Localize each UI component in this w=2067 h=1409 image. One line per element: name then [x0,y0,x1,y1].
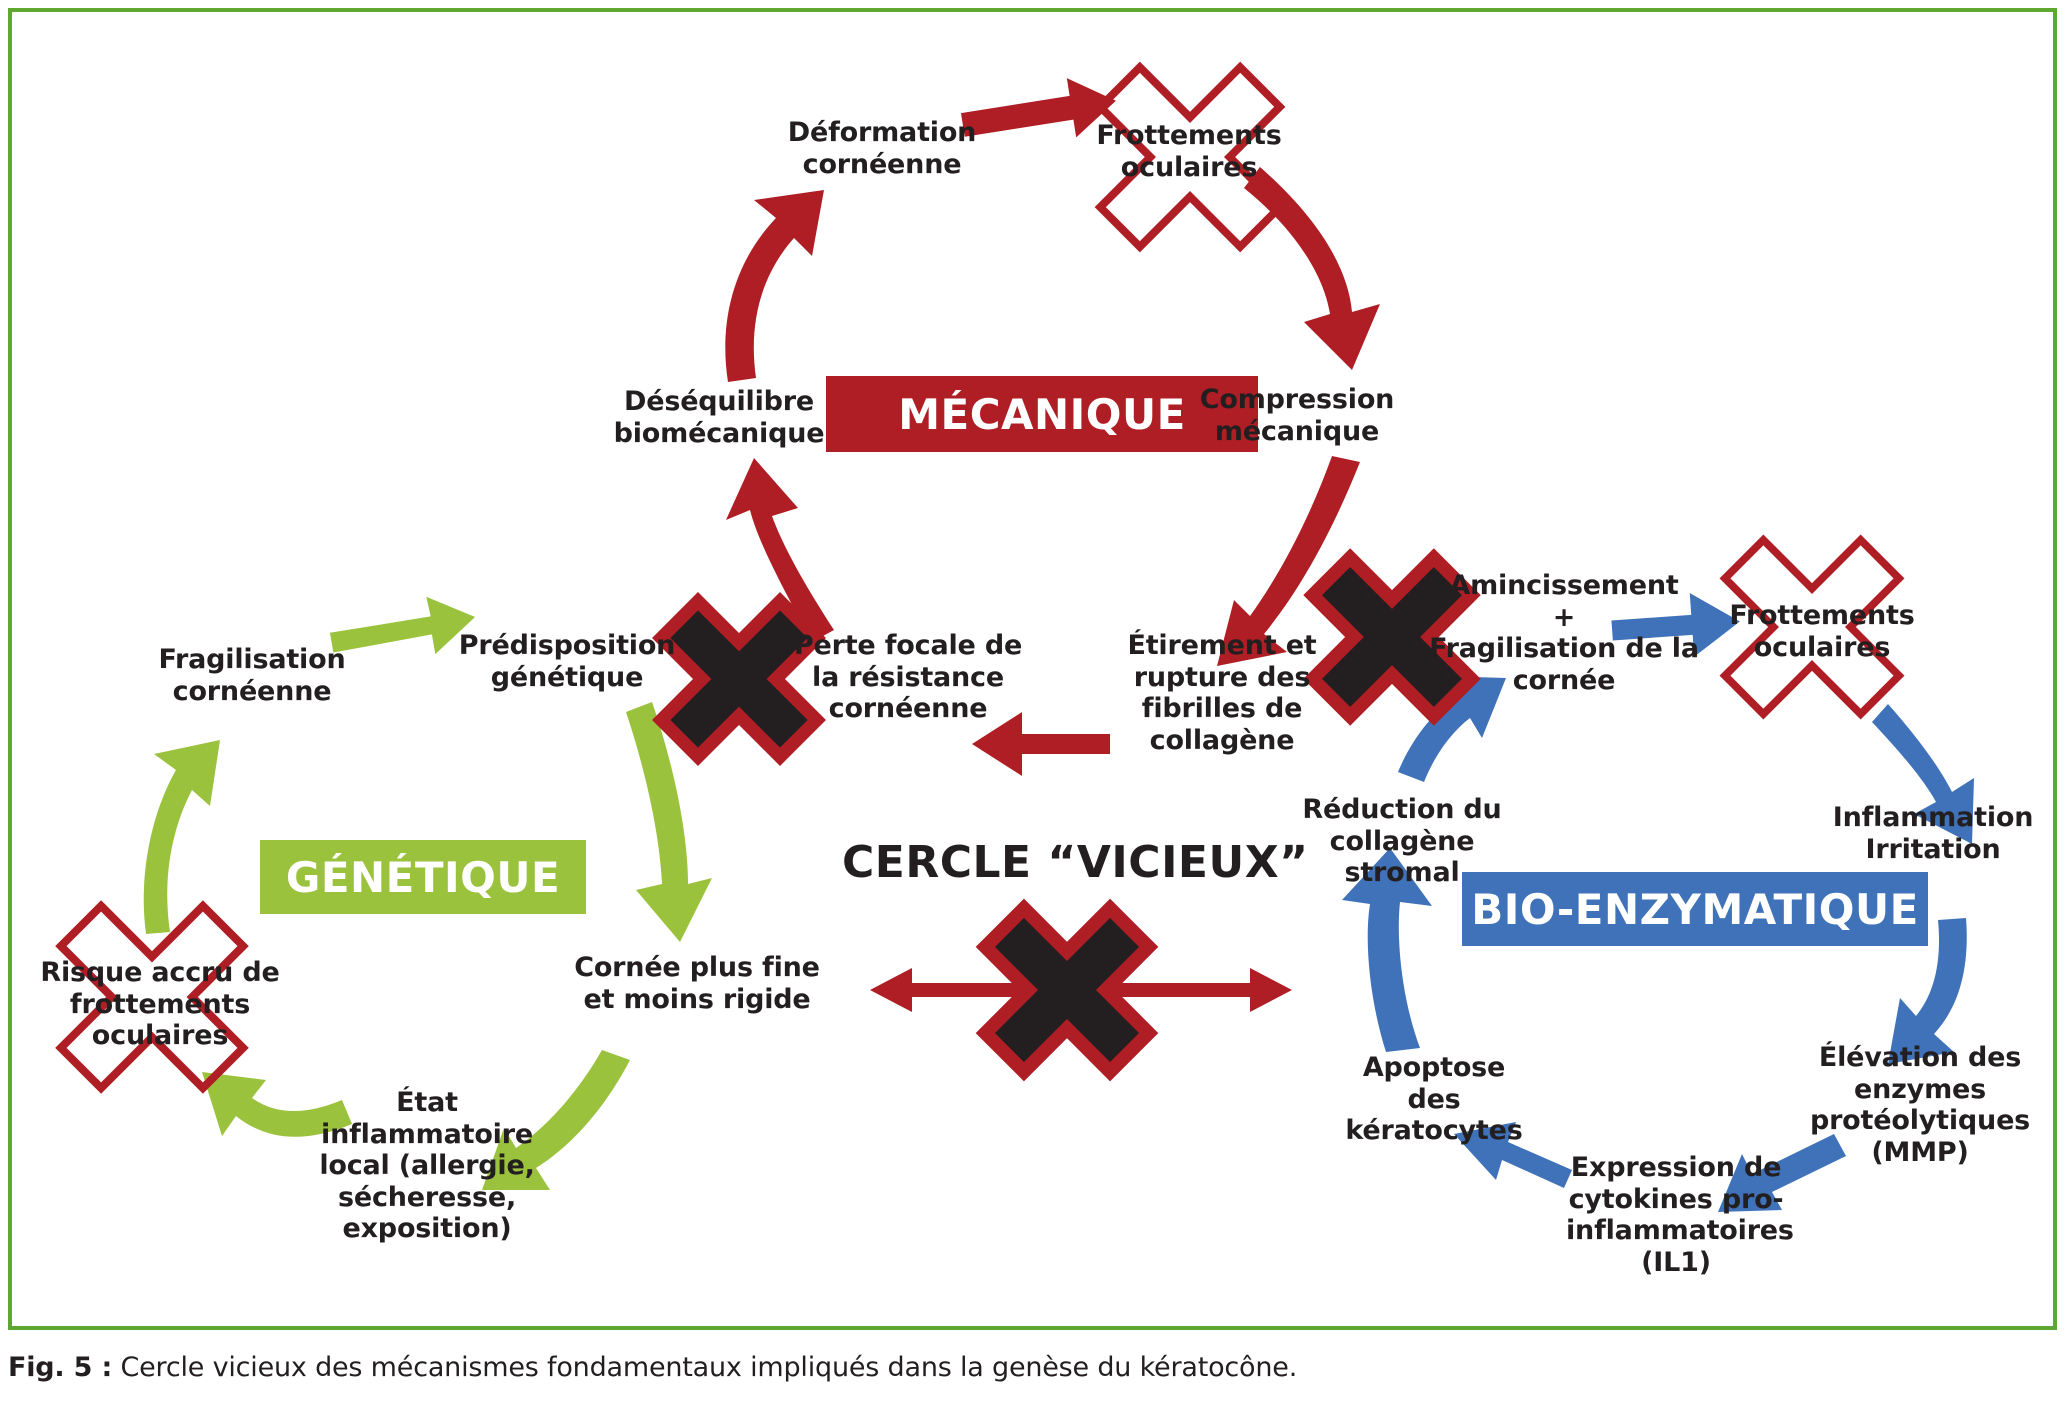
banner-bioenzymatique: BIO-ENZYMATIQUE [1462,872,1928,946]
node-inflammation-irritation: Inflammation Irritation [1820,802,2046,865]
node-compression-mecanique: Compression mécanique [1172,384,1422,447]
node-apoptose-keratocytes: Apoptose des kératocytes [1344,1052,1524,1147]
banner-genetique-label: GÉNÉTIQUE [286,853,560,902]
node-etirement-rupture: Étirement et rupture des fibrilles de co… [1102,630,1342,756]
node-risque-accru: Risque accru de frottements oculaires [20,957,300,1052]
diagram-canvas: MÉCANIQUE GÉNÉTIQUE BIO-ENZYMATIQUE CERC… [12,12,2061,1334]
node-predisposition-genetique: Prédisposition génétique [452,630,682,693]
banner-genetique: GÉNÉTIQUE [260,840,586,914]
figure-caption-text: Cercle vicieux des mécanismes fondamenta… [112,1352,1297,1383]
node-expression-cytokines: Expression de cytokines pro- inflammatoi… [1566,1152,1786,1278]
node-reduction-collagene: Réduction du collagène stromal [1292,794,1512,889]
double-headed-arrow-center [870,968,1292,1012]
node-perte-focale: Perte focale de la résistance cornéenne [782,630,1034,725]
node-frottements-oculaires-bio: Frottements oculaires [1712,600,1932,663]
node-frottements-oculaires-top: Frottements oculaires [1084,120,1294,183]
banner-bioenzymatique-label: BIO-ENZYMATIQUE [1471,885,1919,934]
node-desequilibre-biomecanique: Déséquilibre biomécanique [600,386,838,449]
arrow-risque-to-fragilisation [144,740,220,934]
figure-frame: MÉCANIQUE GÉNÉTIQUE BIO-ENZYMATIQUE CERC… [8,8,2057,1330]
node-etat-inflammatoire: État inflammatoire local (allergie, séch… [312,1087,542,1245]
banner-mecanique-label: MÉCANIQUE [898,390,1186,439]
node-cornee-plus-fine: Cornée plus fine et moins rigide [572,952,822,1015]
arrow-frottements-to-compression [1244,167,1380,370]
center-title: CERCLE “VICIEUX” [842,837,1272,888]
node-amincissement-fragilisation: Amincissement + Fragilisation de la corn… [1424,570,1704,696]
arrow-perte-to-desequilibre [726,458,834,642]
node-elevation-enzymes: Élévation des enzymes protéolytiques (MM… [1800,1042,2040,1168]
cross-solid-center [942,865,1191,1114]
node-deformation-corneenne: Déformation cornéenne [752,117,1012,180]
arrow-desequilibre-to-deformation [725,190,824,382]
figure-caption: Fig. 5 : Cercle vicieux des mécanismes f… [8,1352,2058,1383]
arrow-predisposition-to-cornee [626,702,712,942]
node-fragilisation-corneenne: Fragilisation cornéenne [142,644,362,707]
figure-caption-label: Fig. 5 : [8,1352,112,1383]
